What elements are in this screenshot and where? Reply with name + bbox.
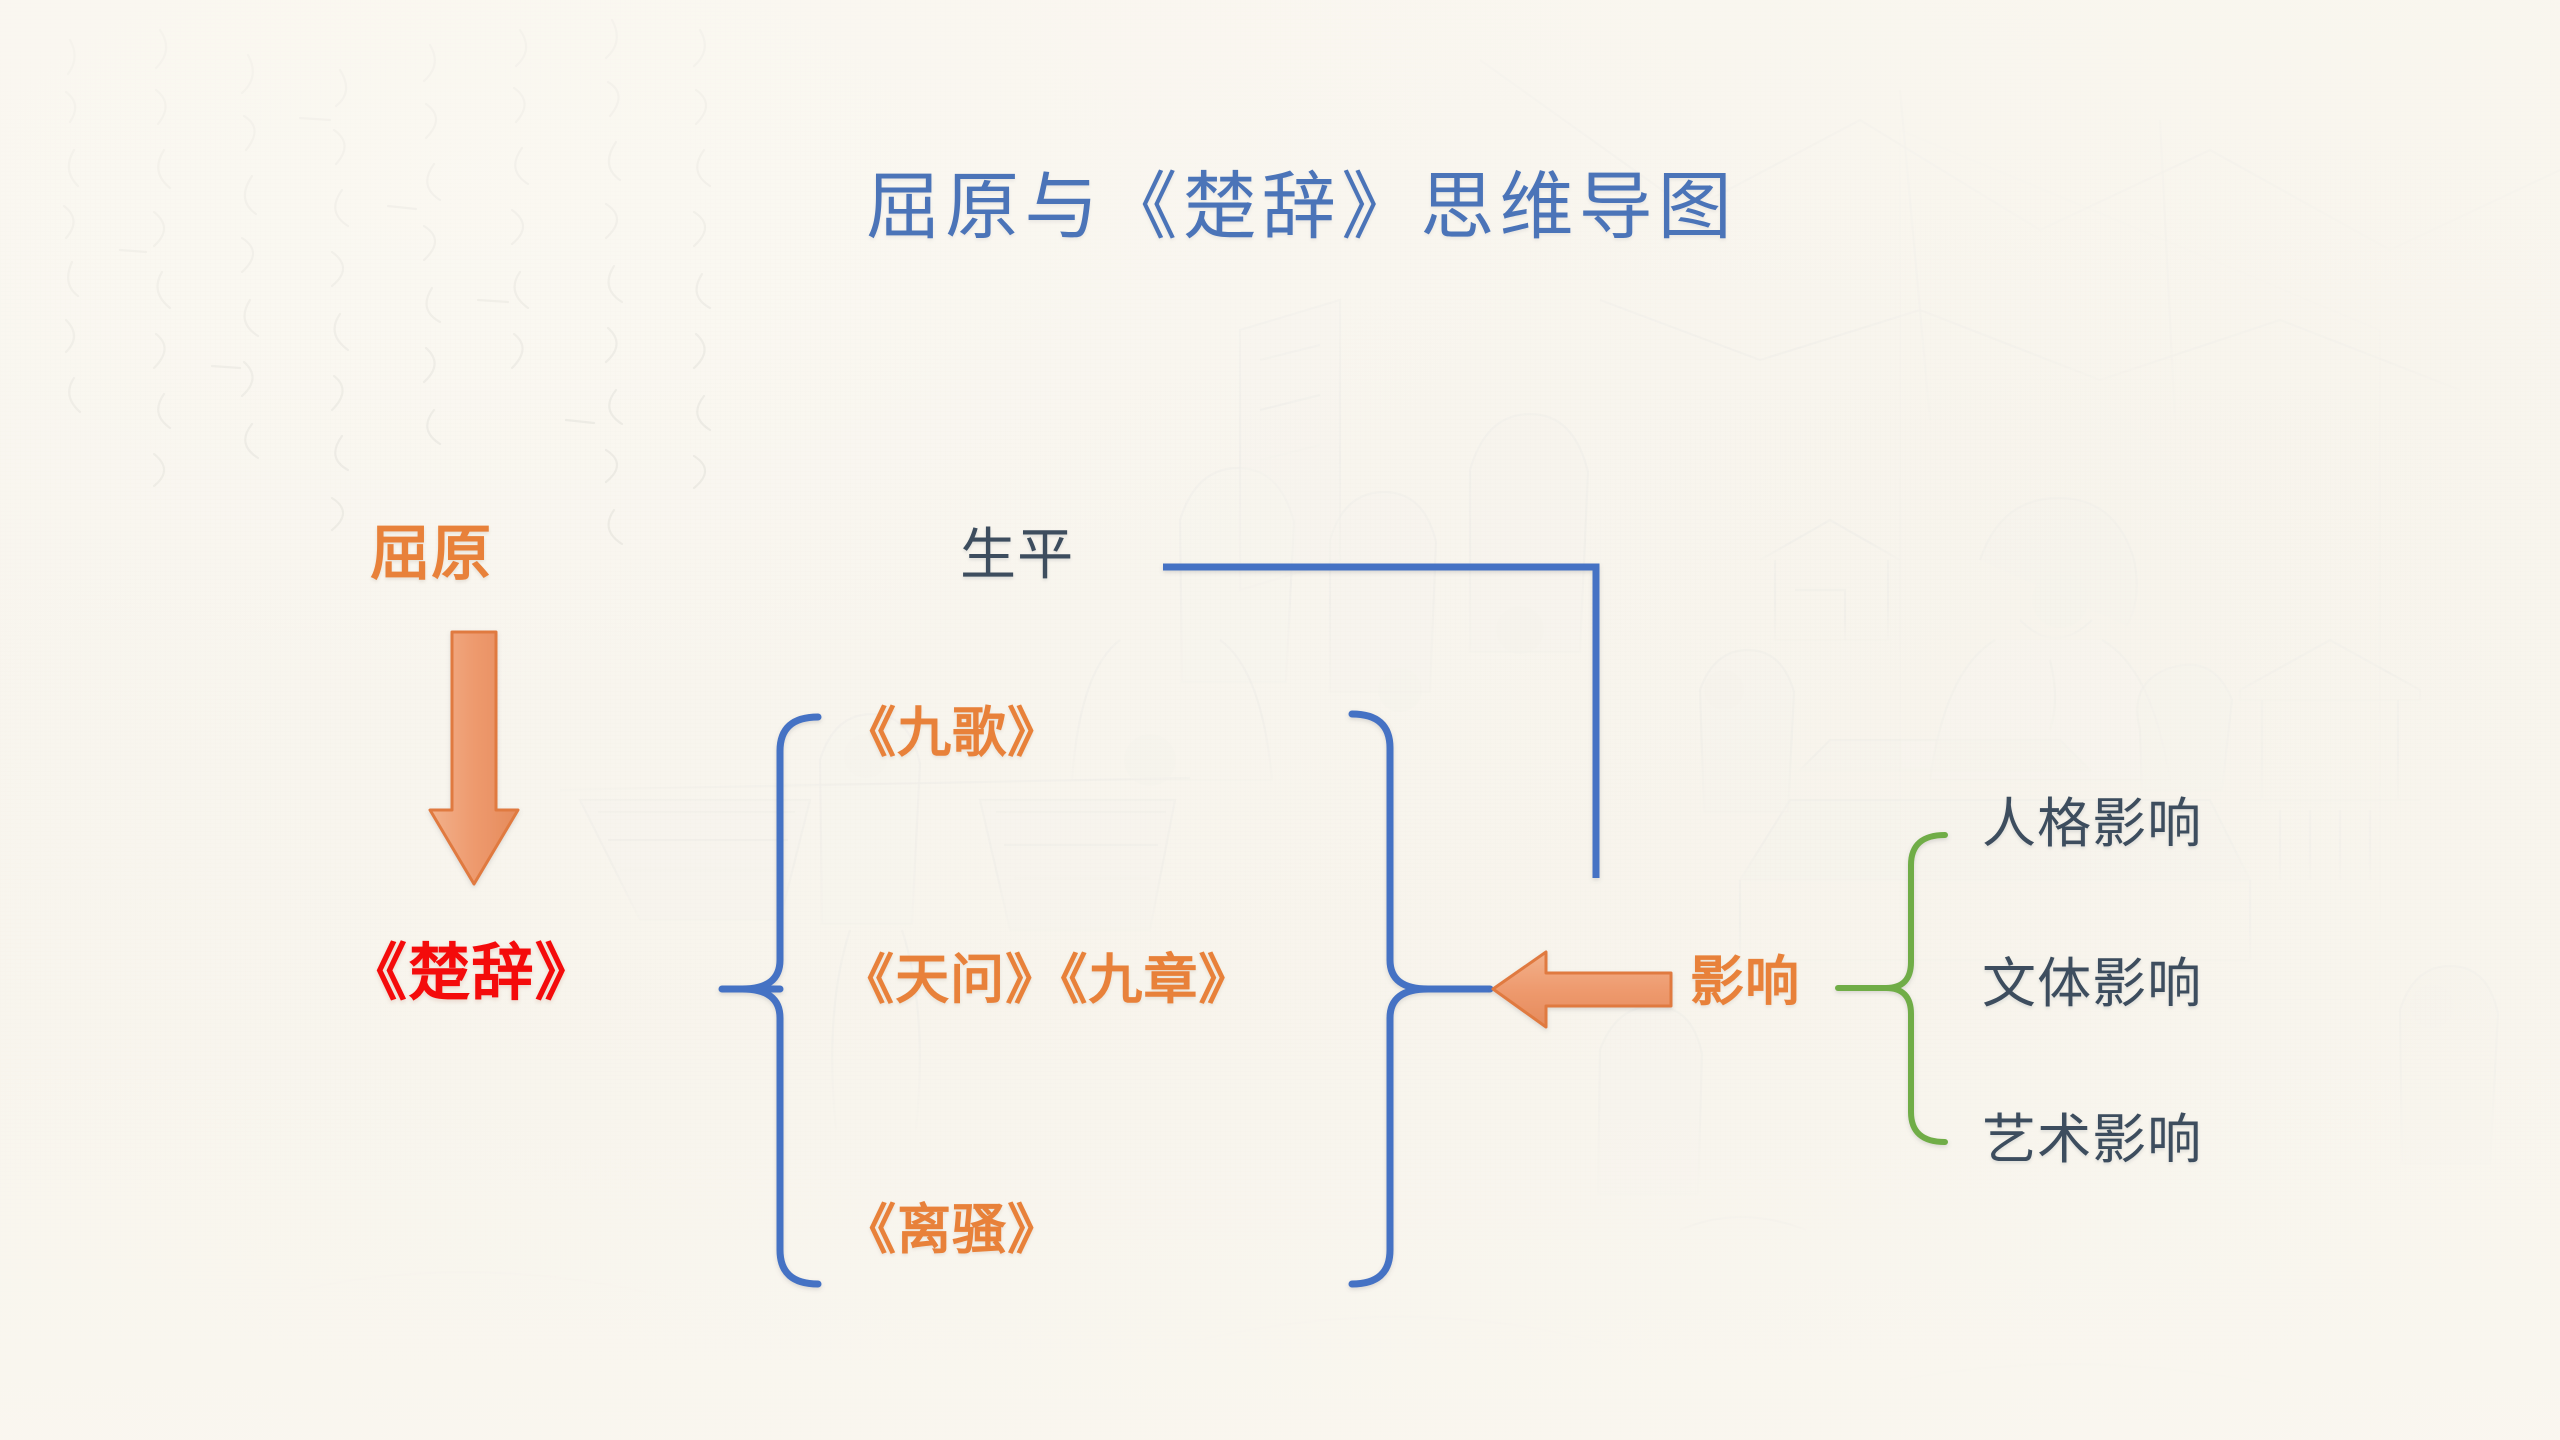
connector-influence-to-aspects-brace: [1838, 835, 1945, 1142]
node-chapter-jiuge[interactable]: 《九歌》: [842, 706, 1062, 760]
node-root-quyuan[interactable]: 屈原: [370, 524, 492, 584]
connector-chapters-to-influence-brace: [1352, 714, 1490, 1284]
node-influence[interactable]: 影响: [1690, 955, 1800, 1009]
node-work-chuci[interactable]: 《楚辞》: [345, 943, 598, 1005]
connector-work-to-chapters-brace: [722, 717, 818, 1284]
mindmap-slide: 屈原与《楚辞》思维导图 屈原 生平 《楚辞》 《九歌》 《天问》《九章》 《离骚…: [0, 0, 2560, 1440]
page-title: 屈原与《楚辞》思维导图: [866, 170, 1737, 244]
arrow-influence-to-work: [1493, 952, 1671, 1027]
arrow-root-to-work: [430, 632, 518, 884]
node-chapter-lisao[interactable]: 《离骚》: [842, 1203, 1062, 1257]
node-chapter-tianwen-jiuzhang[interactable]: 《天问》《九章》: [840, 953, 1254, 1007]
node-biography[interactable]: 生平: [960, 527, 1074, 583]
node-influence-personality[interactable]: 人格影响: [1982, 797, 2202, 851]
node-influence-style[interactable]: 文体影响: [1982, 957, 2202, 1011]
node-influence-art[interactable]: 艺术影响: [1982, 1113, 2202, 1167]
